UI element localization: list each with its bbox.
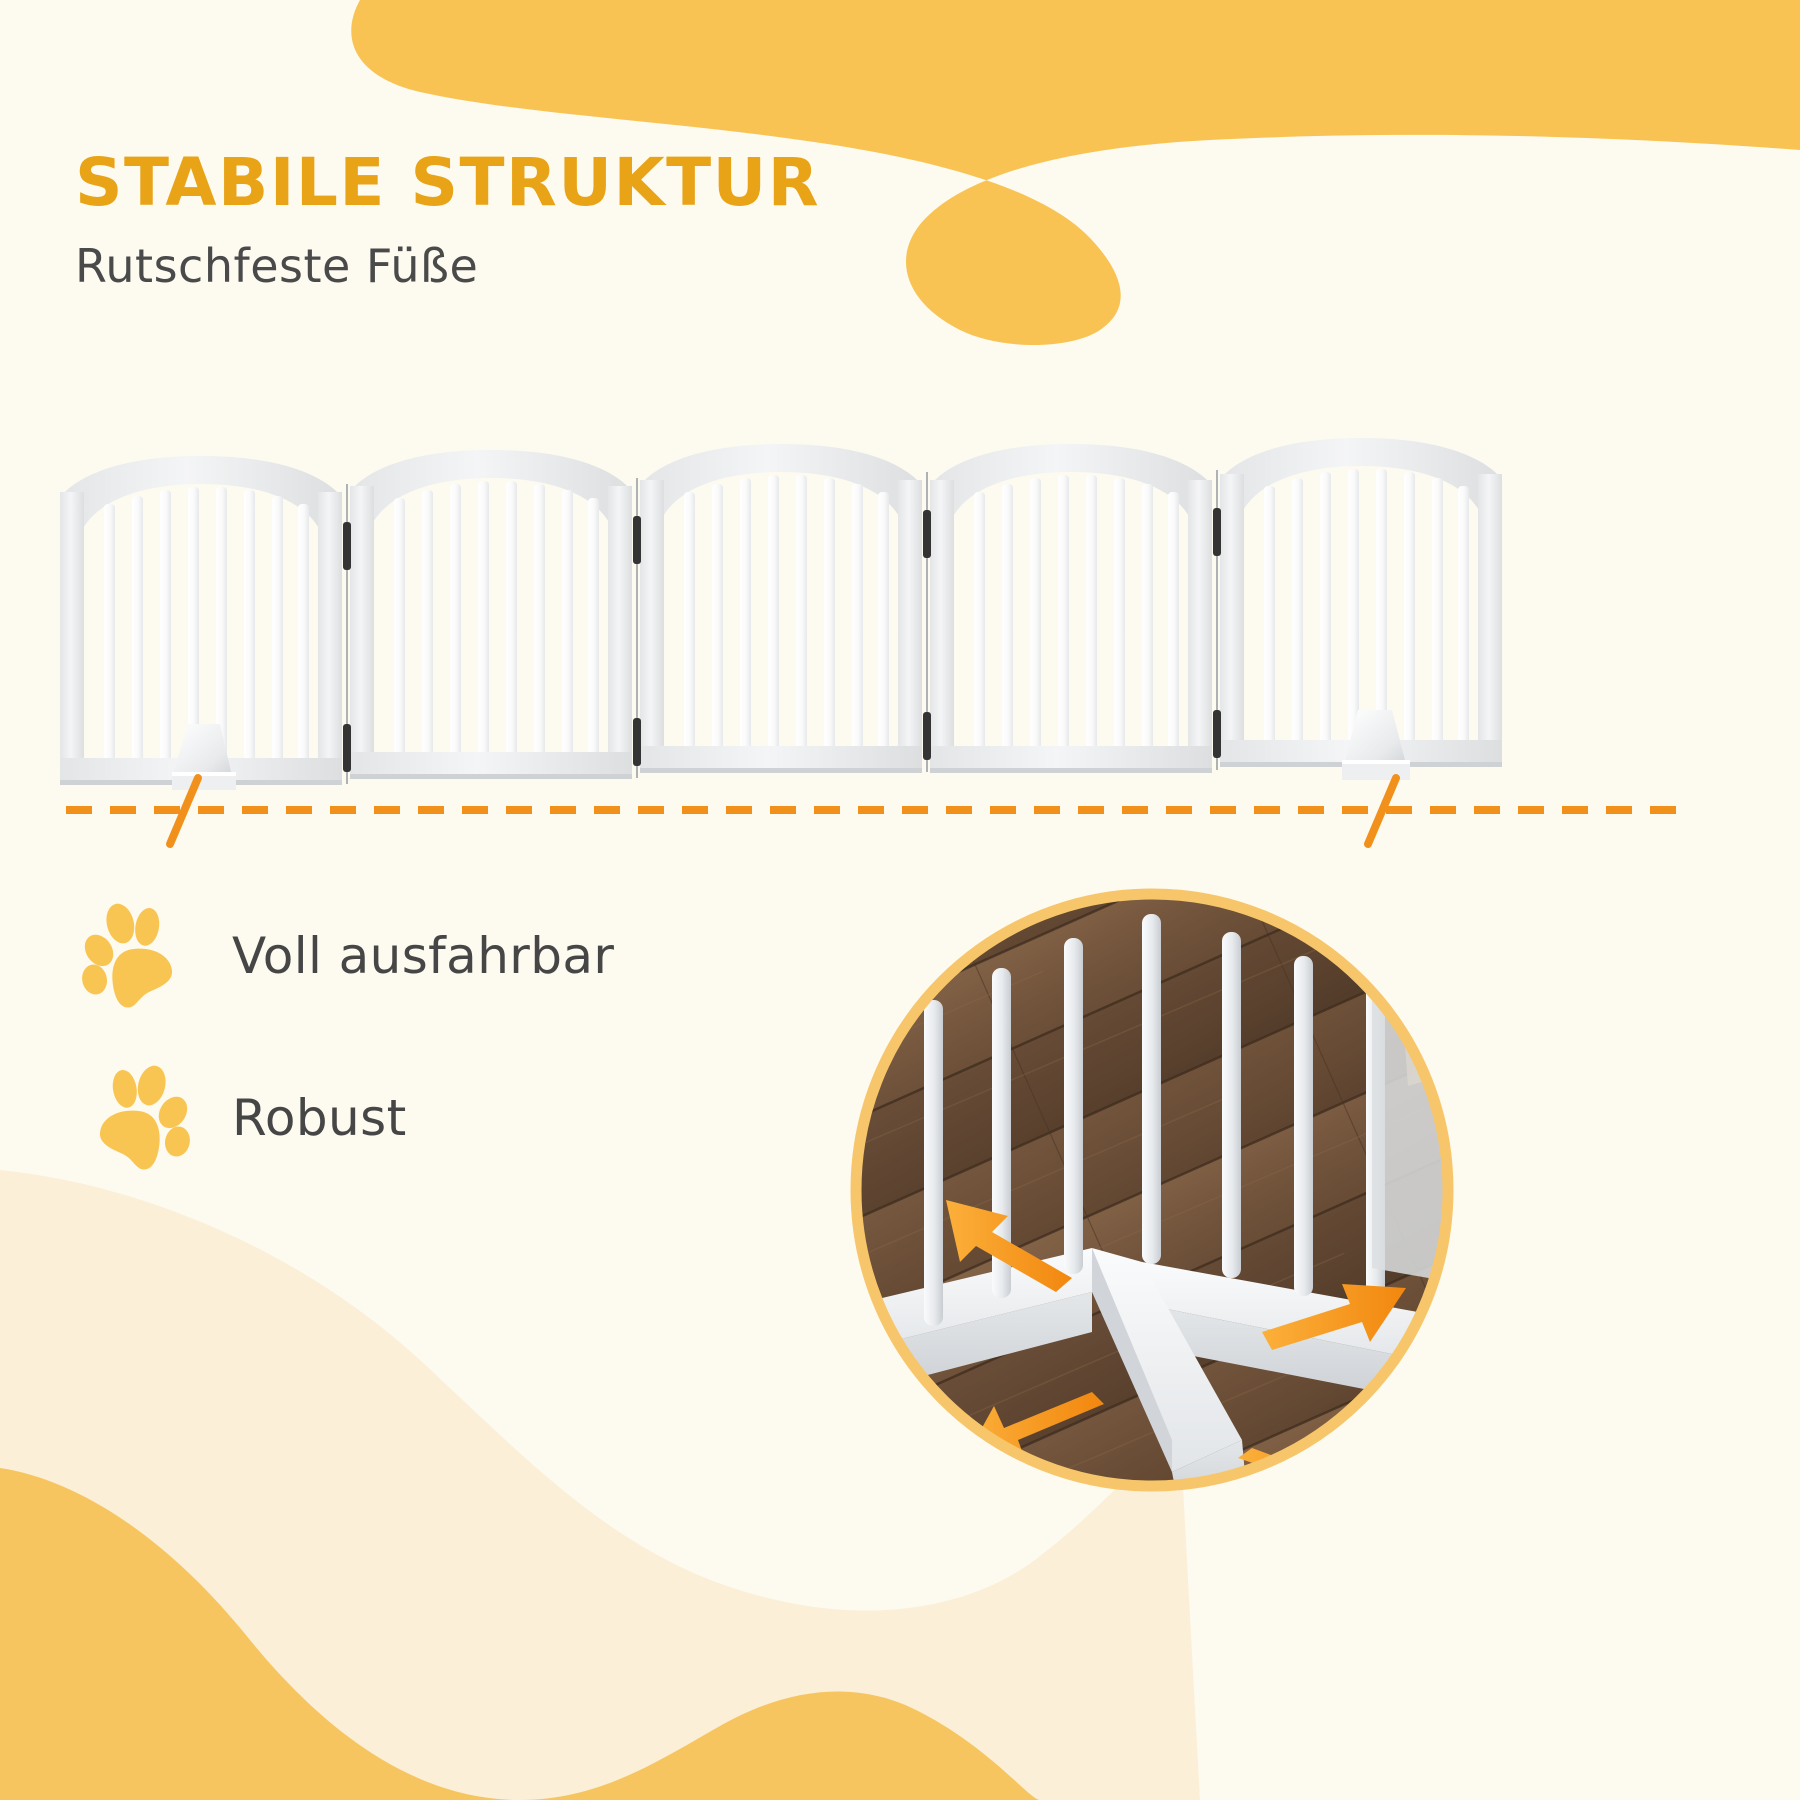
dashed-line-svg — [56, 770, 1696, 850]
gate-panel-3 — [640, 444, 922, 773]
arrow-lower-right — [1238, 1448, 1376, 1500]
feature-label: Voll ausfahrbar — [232, 927, 614, 985]
paw-print-icon — [80, 900, 192, 1012]
feature-item-robust: Robust — [80, 1062, 407, 1174]
gate-panel-edge — [1312, 880, 1462, 940]
page-title: STABILE STRUKTUR — [75, 148, 820, 217]
product-image-folding-pet-gate — [60, 424, 1510, 814]
page-subtitle: Rutschfeste Füße — [75, 239, 820, 293]
gate-illustration — [60, 424, 1510, 814]
gate-panel-2 — [350, 450, 632, 779]
paw-print-icon — [80, 1062, 192, 1174]
feature-label: Robust — [232, 1089, 407, 1147]
inset-photo-content — [842, 880, 1462, 1500]
infographic-canvas: STABILE STRUKTUR Rutschfeste Füße — [0, 0, 1800, 1800]
inset-photo-svg — [842, 880, 1462, 1500]
feature-item-voll-ausfahrbar: Voll ausfahrbar — [80, 900, 614, 1012]
gate-panel-4 — [930, 444, 1212, 773]
header-block: STABILE STRUKTUR Rutschfeste Füße — [75, 148, 820, 293]
measurement-dashed-line — [56, 770, 1696, 850]
inset-photo-non-slip-foot — [842, 880, 1462, 1500]
